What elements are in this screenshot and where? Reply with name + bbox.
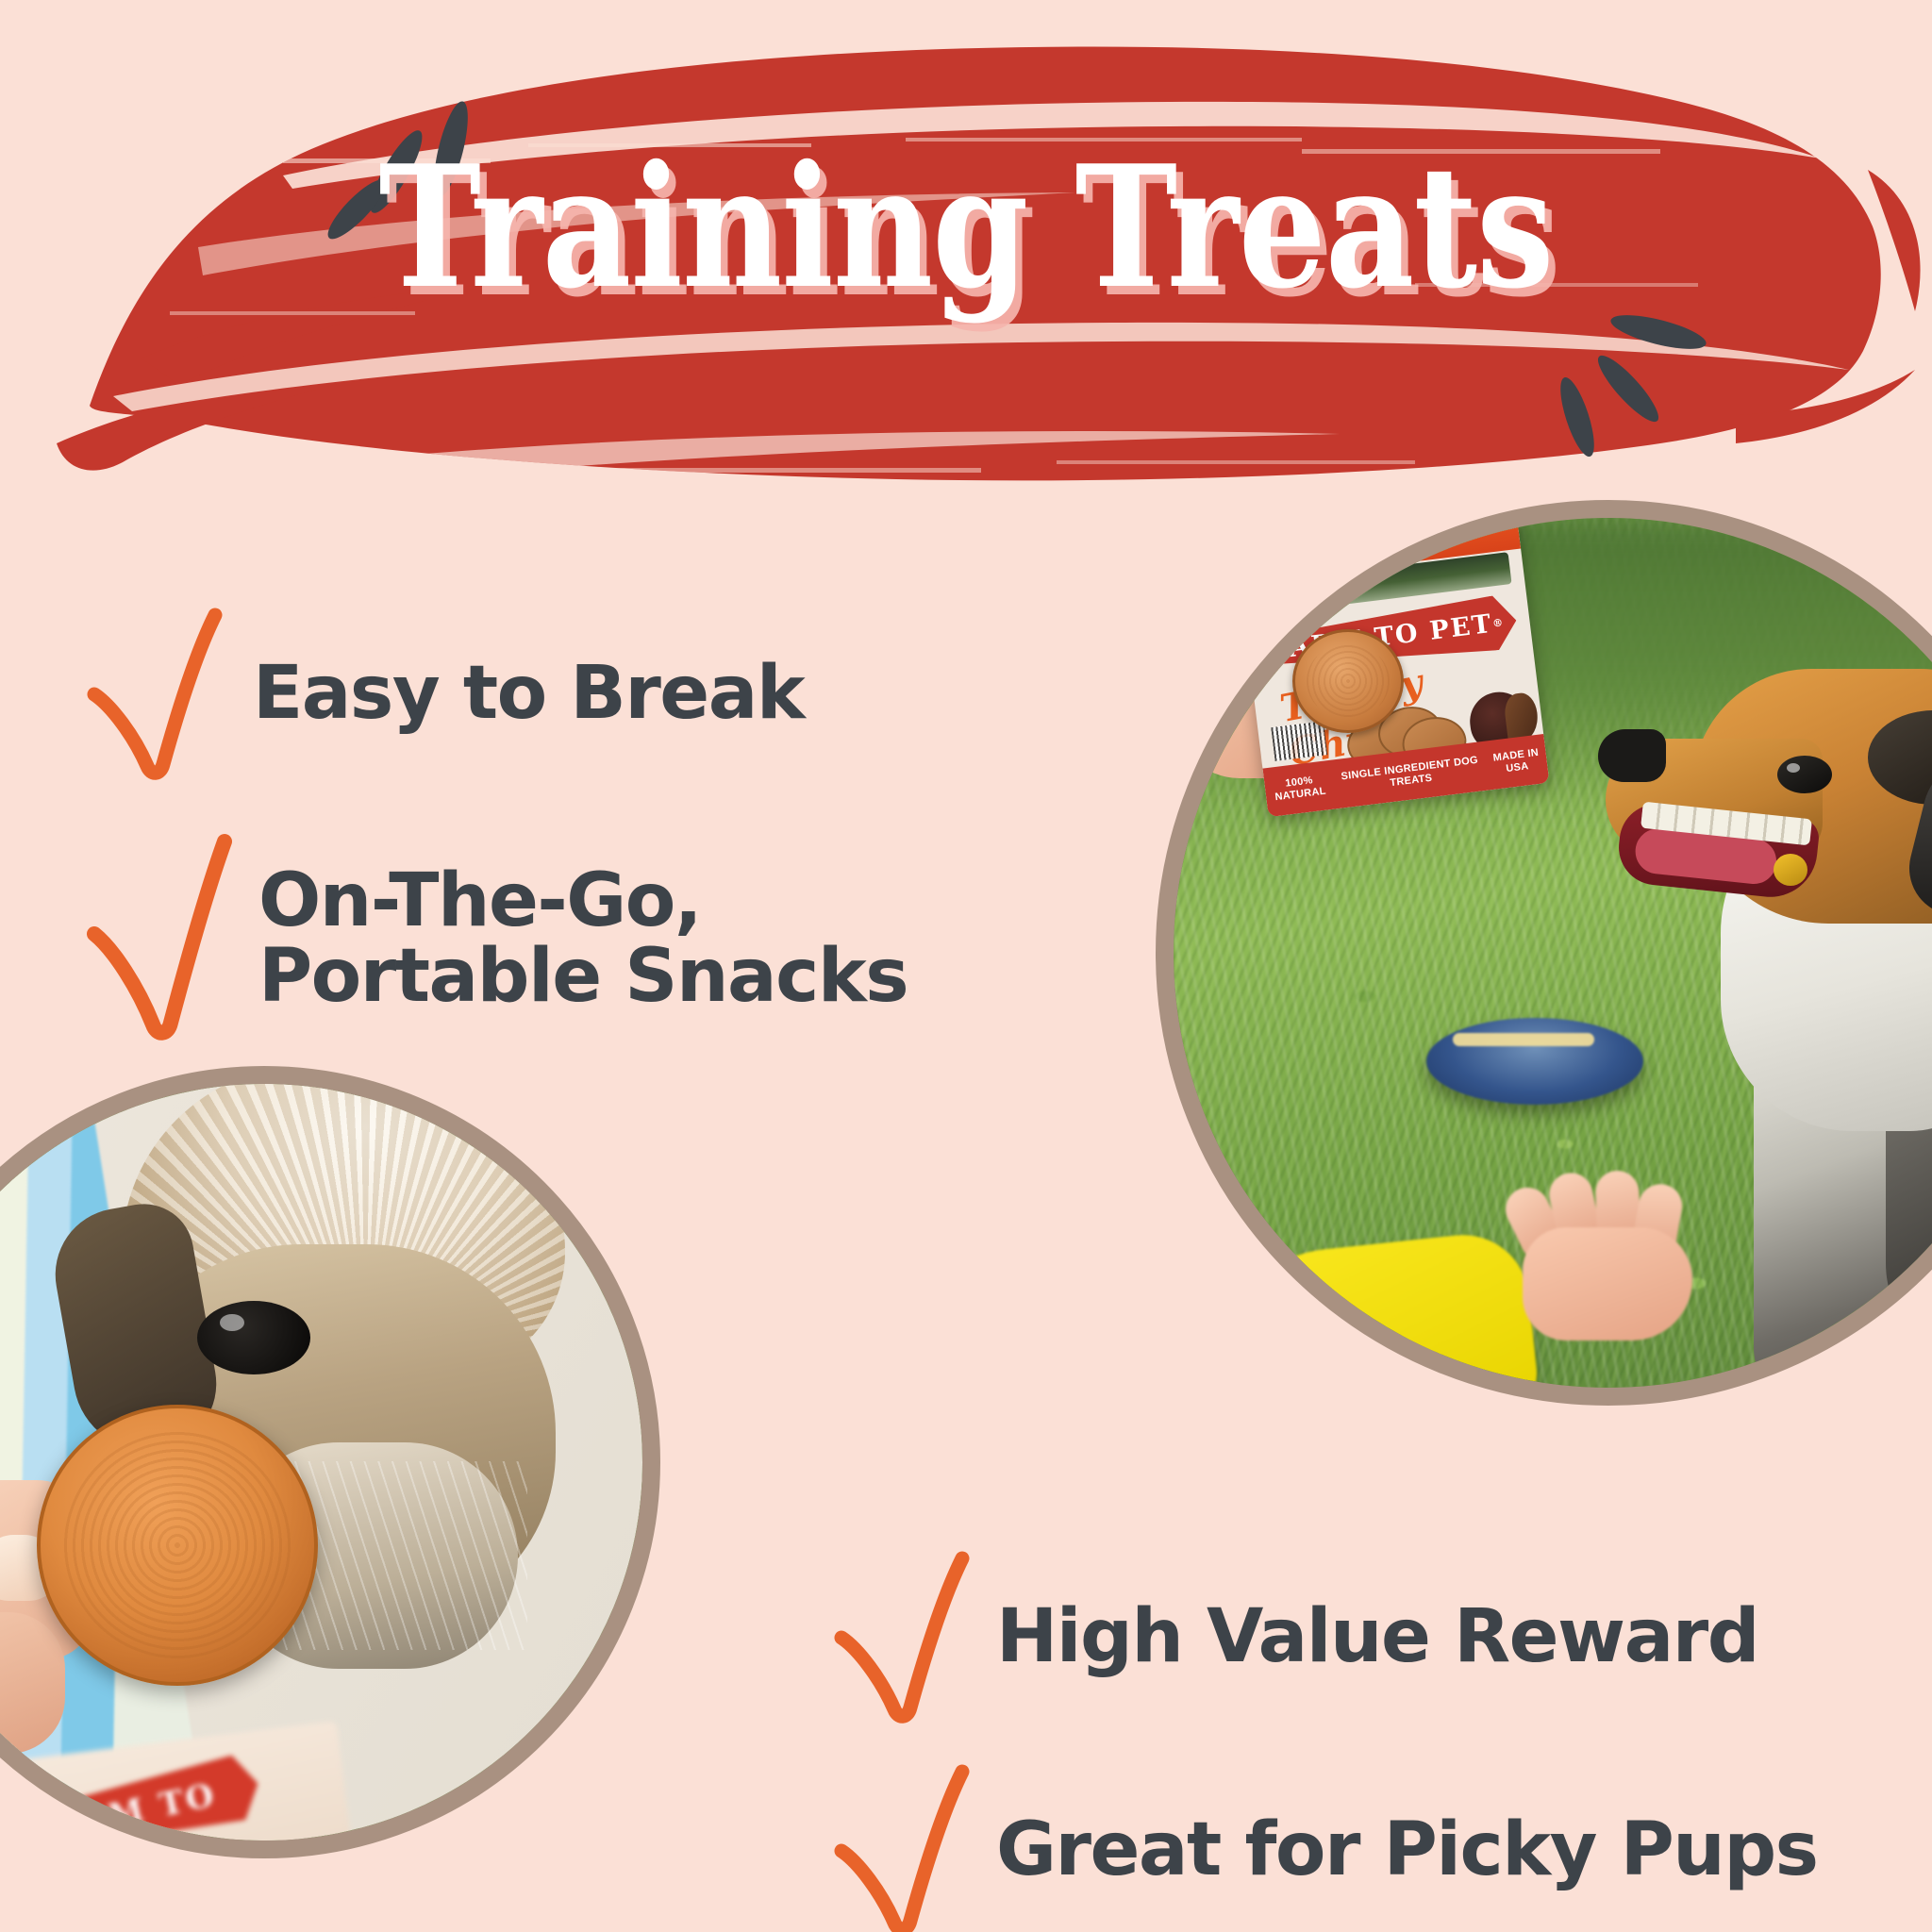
checkmark-icon — [830, 1760, 972, 1932]
photo-bottom-left-dog-with-treat: FARM TO PET Turkey Chips — [0, 1066, 660, 1858]
turkey-chip-treat — [37, 1405, 318, 1686]
checkmark-icon — [83, 830, 234, 1047]
registered-mark: ® — [1491, 616, 1504, 629]
photo-top-right-dog-with-package: Snap for Treats! turkey FARM TO PET ® Tu… — [1156, 500, 1932, 1406]
benefit-item-on-the-go: On-The-Go, Portable Snacks — [83, 830, 908, 1047]
benefit-item-picky-pups: Great for Picky Pups — [830, 1760, 1818, 1932]
claim-single-ingredient: SINGLE INGREDIENT DOG TREATS — [1333, 754, 1489, 796]
barcode — [1271, 721, 1327, 761]
turkey-chip-held — [1292, 629, 1404, 733]
benefit-label: Easy to Break — [253, 656, 804, 731]
benefit-item-easy-to-break: Easy to Break — [83, 604, 804, 783]
benefit-label: On-The-Go, Portable Snacks — [258, 863, 908, 1015]
page-title: Training Treats — [174, 143, 1757, 311]
header-banner: Training Treats — [0, 0, 1932, 528]
claim-made-in-usa: MADE IN USA — [1486, 746, 1548, 777]
benefit-label: High Value Reward — [996, 1599, 1758, 1674]
poster-canvas: Training Treats — [0, 0, 1932, 1932]
checkmark-icon — [83, 604, 225, 783]
open-hand — [1494, 1184, 1721, 1354]
benefit-label: Great for Picky Pups — [996, 1812, 1818, 1888]
checkmark-icon — [830, 1547, 972, 1726]
benefit-item-high-value-reward: High Value Reward — [830, 1547, 1758, 1726]
claim-natural: 100% NATURAL — [1264, 773, 1336, 805]
blue-frisbee — [1426, 1018, 1643, 1105]
